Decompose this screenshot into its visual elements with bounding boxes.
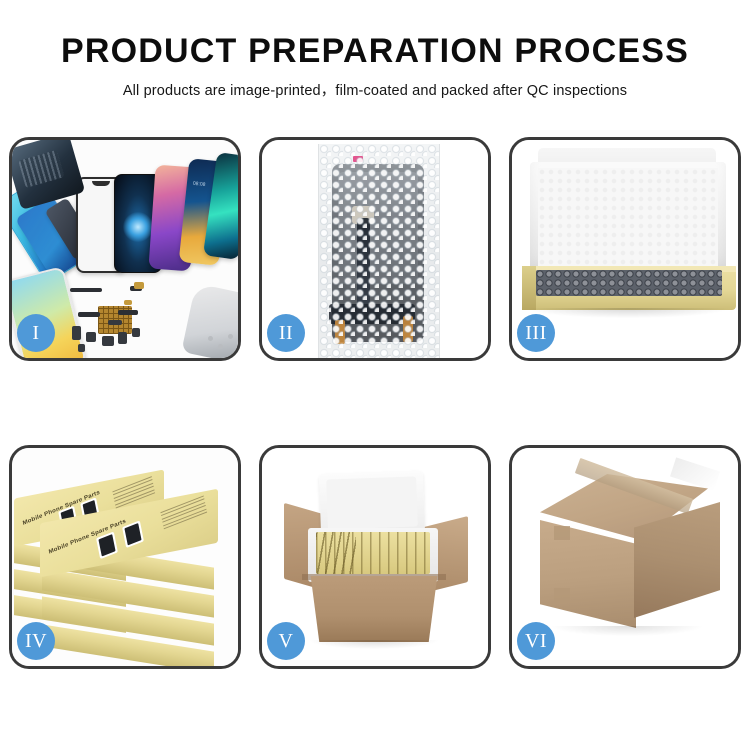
step-panel-1[interactable]: 08:08 I [9, 137, 241, 361]
foam-lid-open [319, 470, 425, 536]
small-part-6 [78, 344, 85, 352]
spare-part-bar-1 [70, 288, 102, 292]
step-badge-3: III [517, 314, 555, 352]
step-panel-4[interactable]: Mobile Phone Spare Parts Mobile Phone Sp… [9, 445, 241, 669]
carton-seam-top [554, 526, 570, 540]
box-thumbnail-3 [96, 531, 118, 559]
screw-3 [228, 334, 233, 339]
gold-connector-1 [134, 282, 144, 289]
spare-part-bar-3 [78, 312, 100, 317]
step-badge-4: IV [17, 622, 55, 660]
step-badge-5: V [267, 622, 305, 660]
step-panel-6[interactable]: VI [509, 445, 741, 669]
yellow-boxes-inside-left [316, 532, 356, 574]
spare-part-bar-4 [118, 310, 138, 315]
bubble-texture-overlay [319, 144, 439, 358]
small-part-4 [118, 332, 127, 344]
gold-connector-2 [124, 300, 132, 305]
page-subtitle: All products are image-printed，film-coat… [0, 79, 750, 100]
page-header: PRODUCT PREPARATION PROCESS All products… [0, 0, 750, 100]
step-panel-3[interactable]: III [509, 137, 741, 361]
process-steps-grid: 08:08 I [9, 137, 741, 669]
white-foam-lid [530, 162, 726, 270]
step-panel-2[interactable]: II [259, 137, 491, 361]
bubble-wrap-bag [318, 144, 440, 358]
carton-seam-bottom [554, 588, 570, 602]
carton-shadow [310, 640, 438, 649]
small-part-5 [132, 328, 140, 337]
bubble-wrapped-contents [536, 270, 722, 296]
jellyfish-glow [123, 212, 153, 242]
tray-left-wall [522, 266, 536, 310]
page-title: PRODUCT PREPARATION PROCESS [0, 34, 750, 70]
step-badge-1: I [17, 314, 55, 352]
screw-1 [208, 336, 213, 341]
step-panel-5[interactable]: V [259, 445, 491, 669]
carton-body [302, 576, 446, 642]
screw-2 [218, 344, 223, 349]
step-badge-2: II [267, 314, 305, 352]
foam-texture [538, 168, 718, 266]
small-part-7 [108, 320, 122, 325]
small-part-1 [72, 326, 81, 340]
small-part-3 [102, 336, 114, 346]
box-spec-lines-2 [160, 495, 207, 531]
step-badge-6: VI [517, 622, 555, 660]
phone-screen-text: 08:08 [193, 181, 206, 188]
phone-back-housing [12, 140, 85, 210]
small-part-2 [86, 332, 96, 342]
sealed-carton-shadow [552, 626, 702, 636]
box-shadow [528, 308, 728, 318]
hand-holding-tool [181, 283, 238, 358]
